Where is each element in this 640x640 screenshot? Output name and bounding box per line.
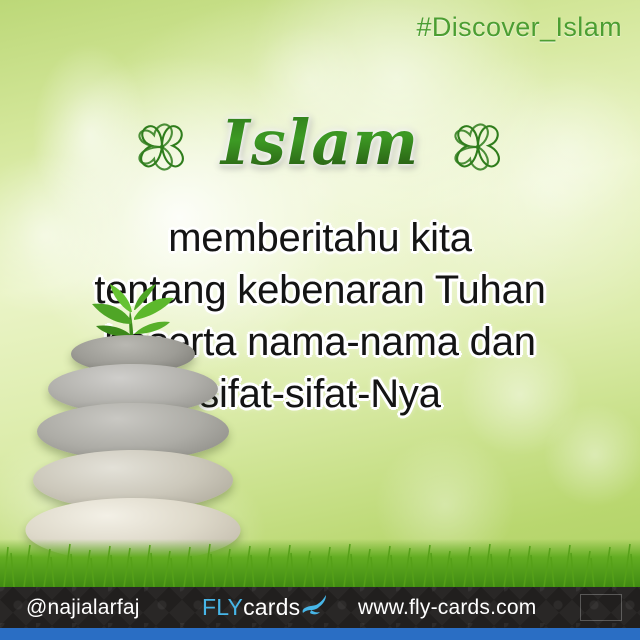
message-line: memberitahu kita xyxy=(0,212,640,264)
quatrefoil-knot-icon xyxy=(445,114,511,180)
bird-icon xyxy=(302,594,328,618)
indonesia-flag-icon xyxy=(580,594,622,621)
author-handle[interactable]: @najialarfaj xyxy=(26,596,140,620)
zen-stone-stack xyxy=(8,262,258,562)
title-row: Islam xyxy=(0,112,640,182)
website-url[interactable]: www.fly-cards.com xyxy=(358,596,536,620)
page-title: Islam xyxy=(217,112,423,182)
flycards-logo[interactable]: FLY cards xyxy=(202,594,328,621)
quatrefoil-knot-icon xyxy=(129,114,195,180)
brand-secondary-label: cards xyxy=(243,594,300,621)
discover-islam-card: #Discover_Islam Islam memberitahu kit xyxy=(0,0,640,640)
grass-strip xyxy=(0,539,640,587)
hashtag-label: #Discover_Islam xyxy=(416,12,622,43)
footer-accent-strip xyxy=(0,628,640,640)
footer-bar: @najialarfaj FLY cards www.fly-cards.com xyxy=(0,587,640,640)
brand-primary-label: FLY xyxy=(202,594,243,621)
